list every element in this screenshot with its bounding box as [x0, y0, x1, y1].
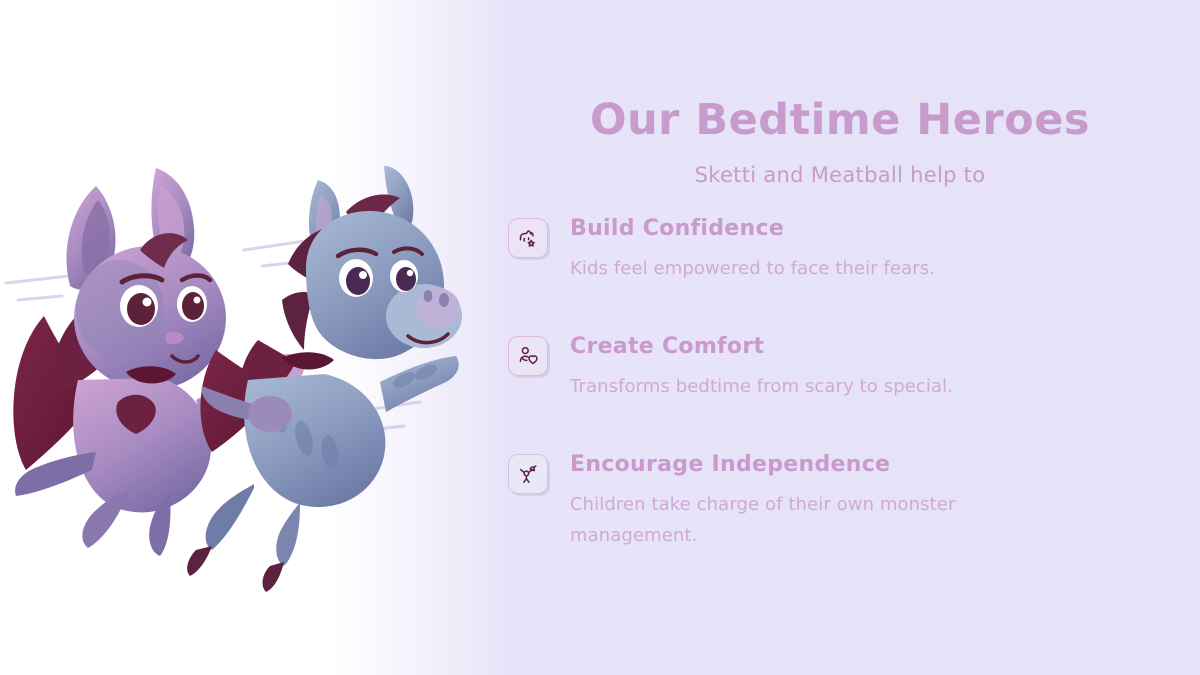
page-subtitle: Sketti and Meatball help to	[480, 163, 1200, 187]
hero-illustration	[0, 0, 500, 675]
feature-title: Create Comfort	[570, 334, 764, 359]
feature-description: Children take charge of their own monste…	[570, 490, 1050, 552]
content-pane: Our Bedtime Heroes Sketti and Meatball h…	[480, 0, 1200, 675]
feature-item-encourage-independence: Encourage Independence Children take cha…	[508, 446, 1188, 546]
horse-star-icon	[516, 226, 540, 250]
feature-item-create-comfort: Create Comfort Transforms bedtime from s…	[508, 328, 1188, 428]
feature-description: Transforms bedtime from scary to special…	[570, 372, 1050, 403]
person-heart-icon	[516, 344, 540, 368]
person-heart-icon-box	[508, 336, 548, 376]
feature-title: Build Confidence	[570, 216, 784, 241]
page-title: Our Bedtime Heroes	[480, 98, 1200, 143]
feature-title: Encourage Independence	[570, 452, 890, 477]
person-arms-raised-bird-icon	[516, 462, 540, 486]
feature-item-build-confidence: Build Confidence Kids feel empowered to …	[508, 210, 1188, 310]
horse-star-icon-box	[508, 218, 548, 258]
person-arms-raised-bird-icon-box	[508, 454, 548, 494]
flying-characters-artwork	[0, 0, 500, 675]
feature-list: Build Confidence Kids feel empowered to …	[508, 210, 1188, 564]
slide-root: Our Bedtime Heroes Sketti and Meatball h…	[0, 0, 1200, 675]
feature-description: Kids feel empowered to face their fears.	[570, 254, 1050, 285]
